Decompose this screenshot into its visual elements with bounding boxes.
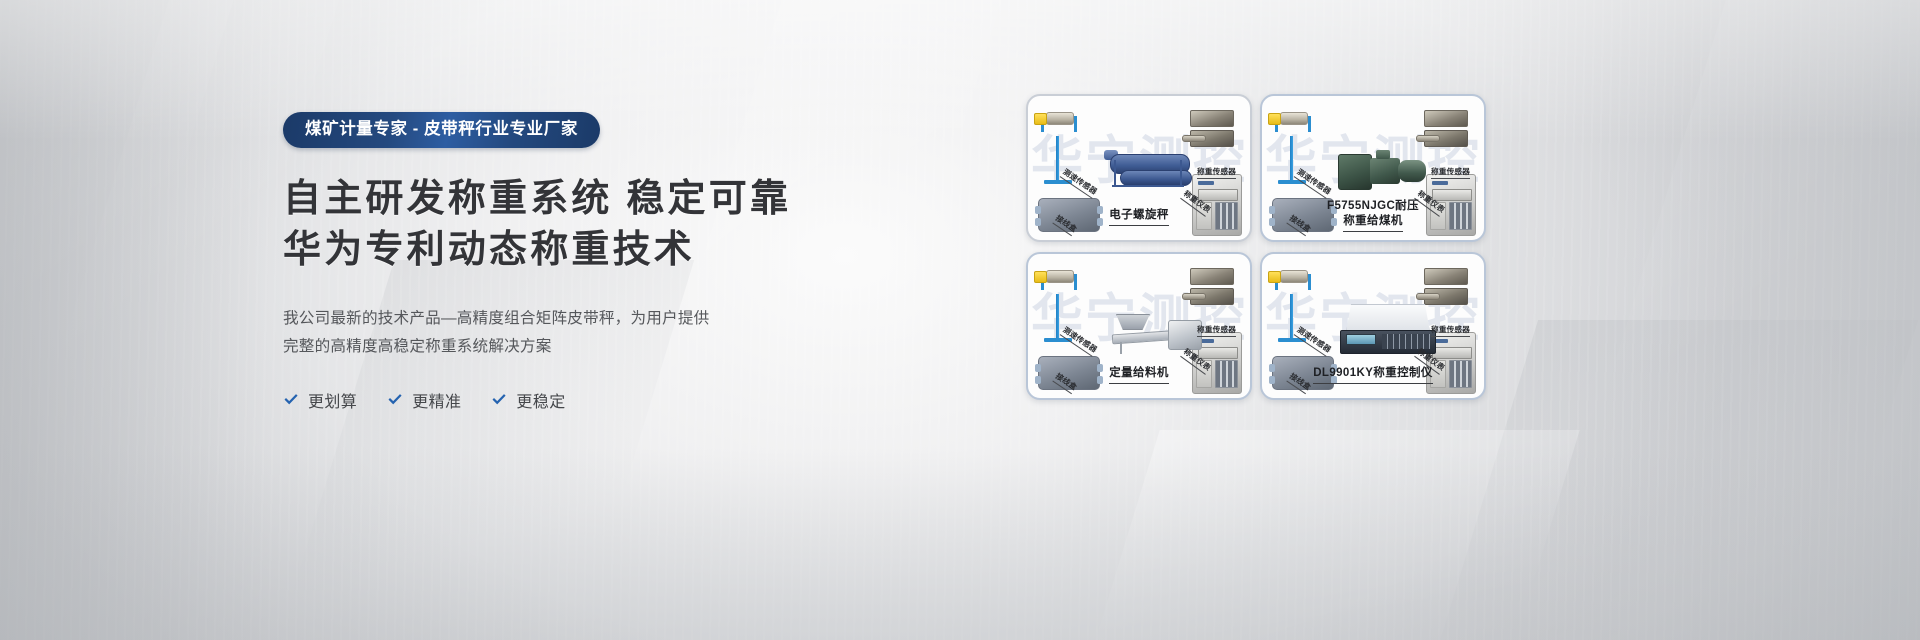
hero-badge: 煤矿计量专家 - 皮带秤行业专业厂家 [283, 112, 600, 148]
screw-conveyor-machine [1102, 144, 1198, 192]
product-card-grid: 华宁测控 测速传感器 接线盒 称重传感器 称重仪表 [1026, 94, 1486, 400]
card-title: F5755NJGC耐压 称重给煤机 [1262, 199, 1484, 232]
label-load-cell: 称重传感器 [1197, 166, 1236, 179]
hero-headline: 自主研发称重系统 稳定可靠 华为专利动态称重技术 [283, 174, 803, 277]
card-title: DL9901KY称重控制仪 [1262, 366, 1484, 384]
product-card-dl9901ky-controller[interactable]: 华宁测控 测速传感器 接线盒 称重传感器 称重仪表 [1260, 252, 1486, 400]
card-title-line1: 定量给料机 [1109, 366, 1169, 384]
feature-item-1: 更精准 [387, 388, 461, 412]
hero-feature-list: 更划算 更精准 更稳定 [283, 388, 803, 412]
card-title-line1: DL9901KY称重控制仪 [1313, 366, 1433, 384]
card-title-line2: 称重给煤机 [1343, 214, 1403, 232]
feature-item-2: 更稳定 [491, 388, 565, 412]
feature-label-0: 更划算 [308, 388, 357, 412]
hero-headline-line2: 华为专利动态称重技术 [283, 225, 803, 277]
label-load-cell: 称重传感器 [1431, 166, 1470, 179]
check-icon [283, 392, 299, 408]
check-icon [387, 392, 403, 408]
load-cell-part [1182, 268, 1236, 314]
feature-label-2: 更稳定 [516, 388, 565, 412]
check-icon [491, 392, 507, 408]
card-title-line1: 电子螺旋秤 [1109, 208, 1169, 226]
hero-text-block: 煤矿计量专家 - 皮带秤行业专业厂家 自主研发称重系统 稳定可靠 华为专利动态称… [283, 112, 803, 412]
product-card-quantitative-feeder[interactable]: 华宁测控 测速传感器 接线盒 称重传感器 称重仪表 [1026, 252, 1252, 400]
feature-label-1: 更精准 [412, 388, 461, 412]
coal-feeder-machine [1338, 148, 1430, 194]
feature-item-0: 更划算 [283, 388, 357, 412]
card-title: 定量给料机 [1028, 366, 1250, 384]
hero-description: 我公司最新的技术产品—高精度组合矩阵皮带秤，为用户提供完整的高精度高稳定称重系统… [283, 305, 723, 362]
hero-headline-line1: 自主研发称重系统 稳定可靠 [283, 178, 791, 220]
product-card-electronic-screw-scale[interactable]: 华宁测控 测速传感器 接线盒 称重传感器 称重仪表 [1026, 94, 1252, 242]
label-load-cell: 称重传感器 [1197, 324, 1236, 337]
label-load-cell: 称重传感器 [1431, 324, 1470, 337]
card-title-line1: F5755NJGC耐压 [1262, 199, 1484, 214]
card-title: 电子螺旋秤 [1028, 208, 1250, 226]
product-card-f5755njgc-feeder[interactable]: 华宁测控 测速传感器 接线盒 称重传感器 称重仪表 [1260, 94, 1486, 242]
